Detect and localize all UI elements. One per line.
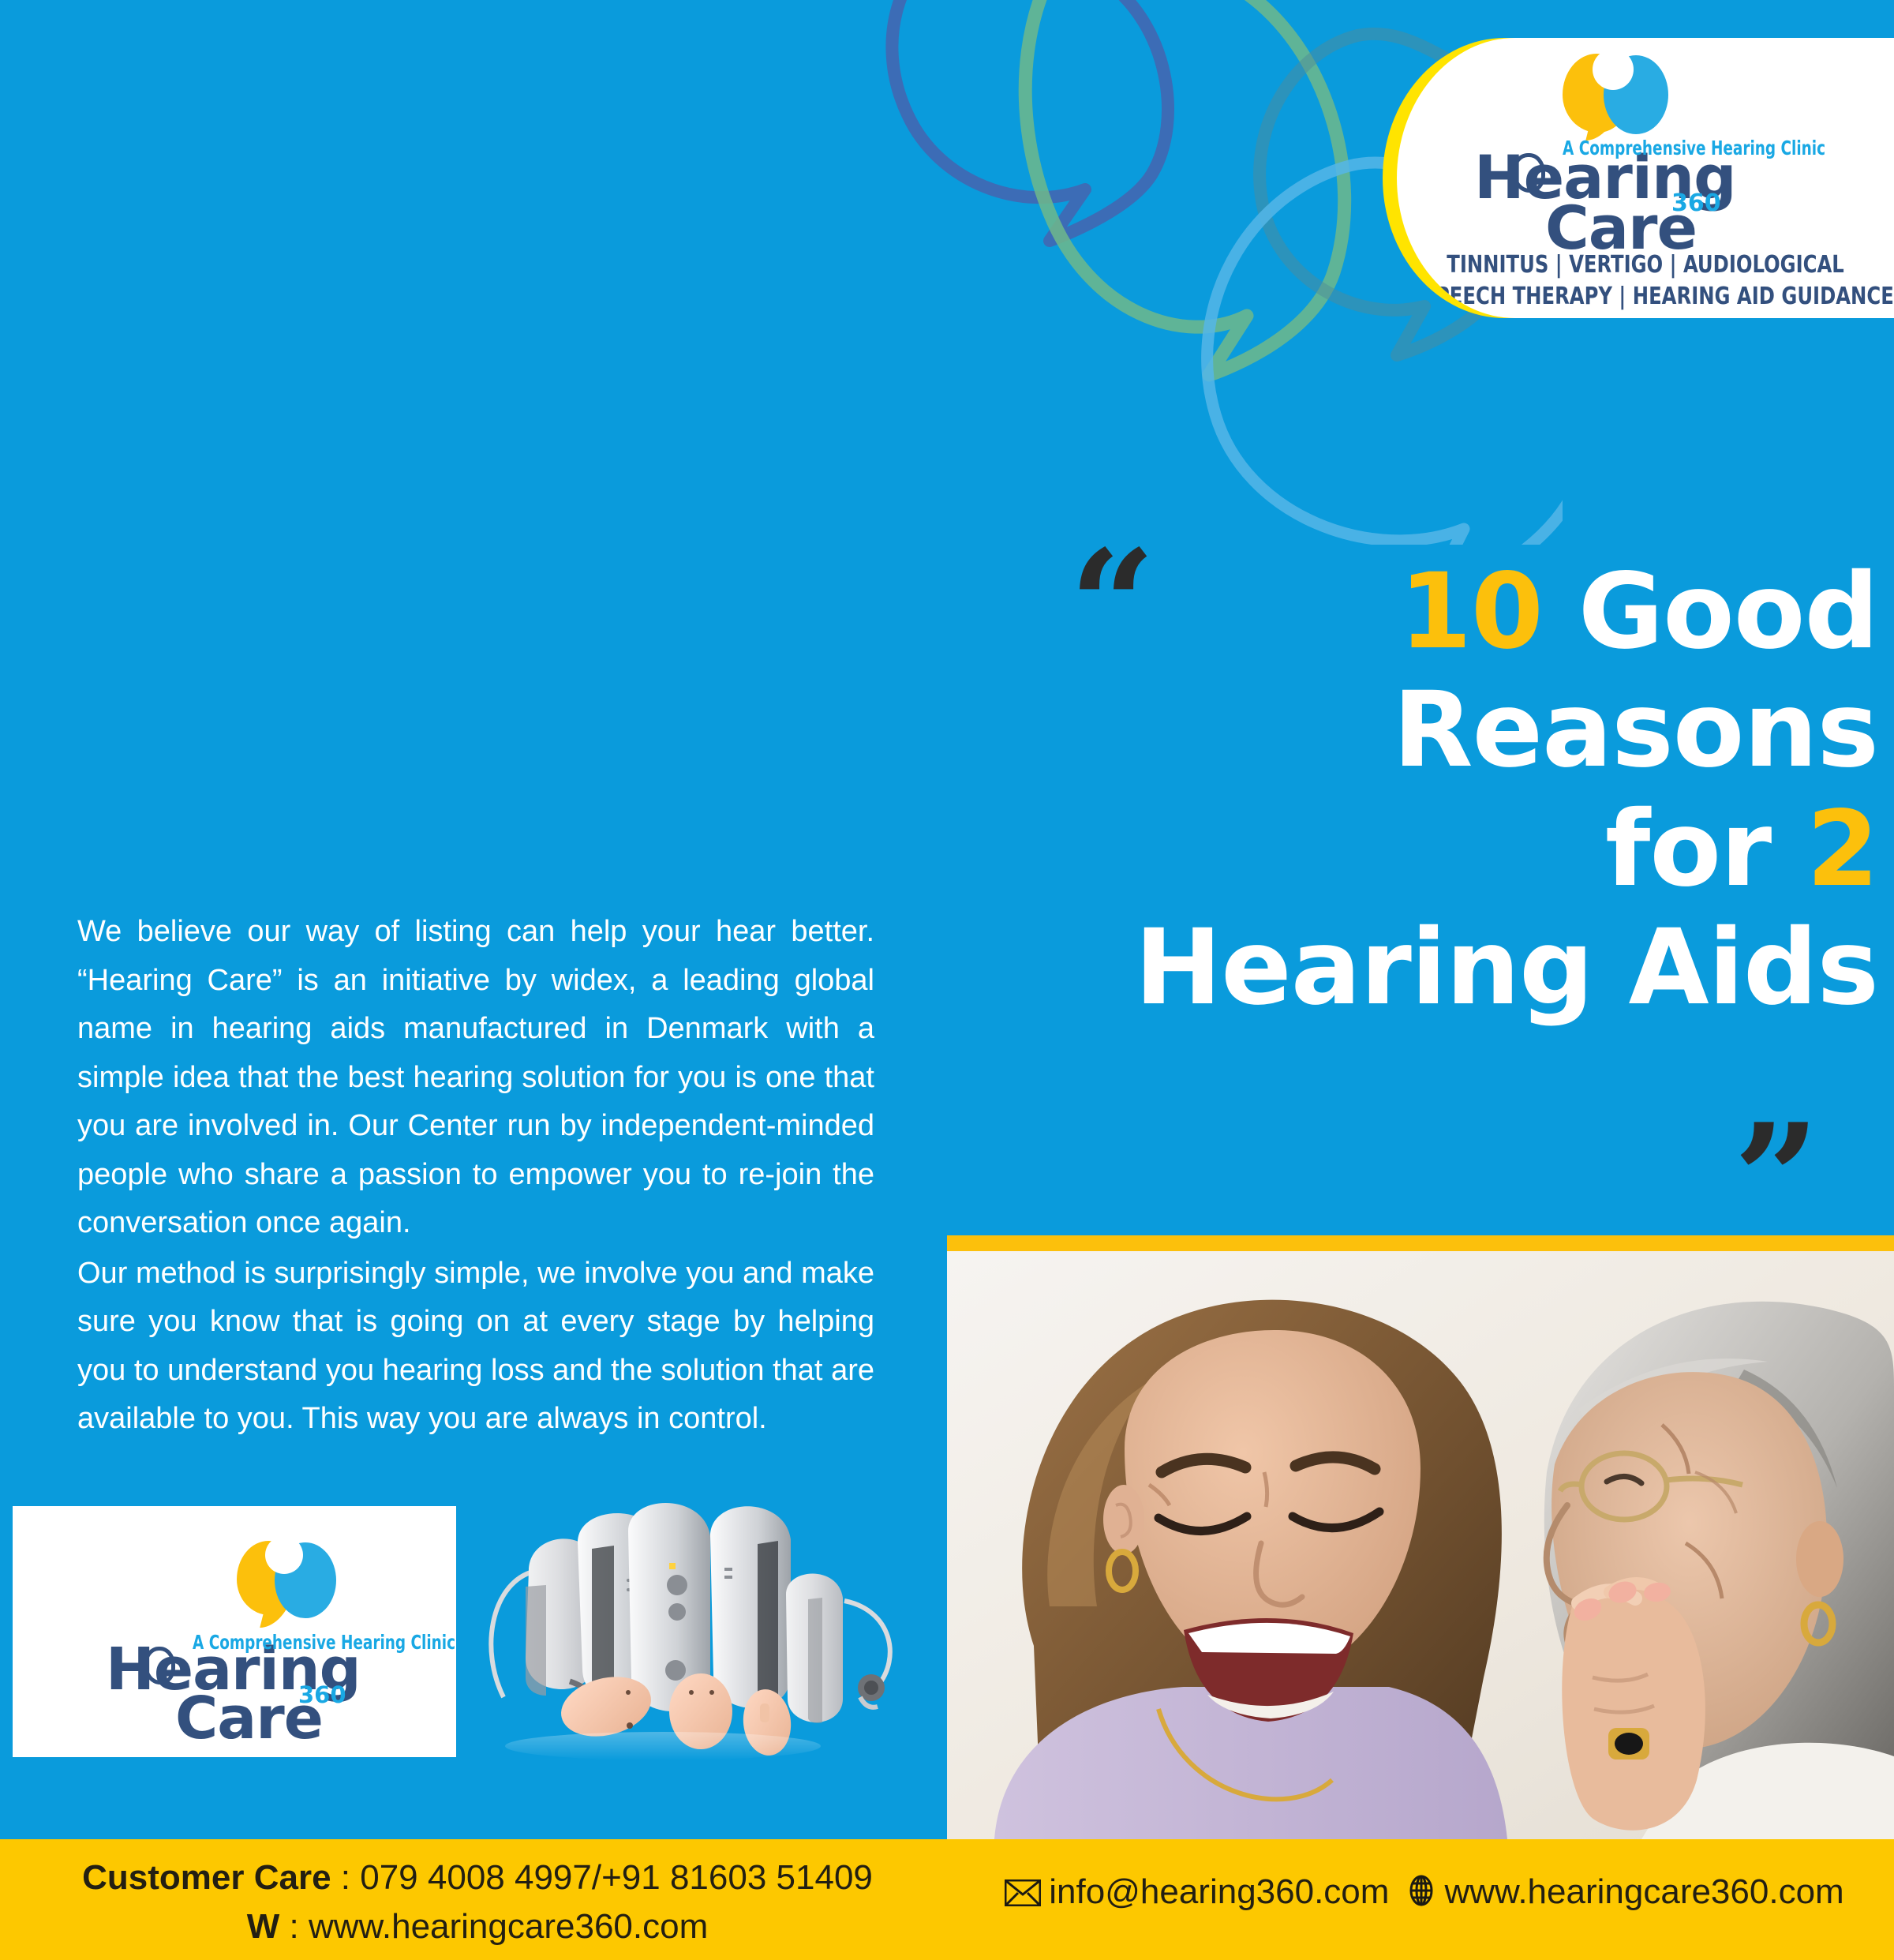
- headline-word-for: for: [1605, 789, 1806, 910]
- photo-top-accent-bar: [947, 1235, 1894, 1251]
- headline-line-3: for 2: [1042, 790, 1878, 909]
- headline-line-1: 10 Good: [1042, 553, 1878, 671]
- quote-close-mark: „: [1736, 1018, 1822, 1168]
- footer-logo-blob-notch: [265, 1536, 303, 1574]
- footer-logo-ear-icon: [144, 1647, 175, 1685]
- older-woman: [1544, 1302, 1894, 1839]
- footer-website-value[interactable]: www.hearingcare360.com: [1444, 1872, 1843, 1911]
- footer-logo-lockup: Hearing Care 360 A Comprehensive Hearing…: [13, 1506, 456, 1757]
- footer-customer-care-sep: :: [331, 1858, 361, 1897]
- headline: 10 Good Reasons for 2 Hearing Aids: [1042, 553, 1878, 1028]
- footer-bar: Customer Care : 079 4008 4997/+91 81603 …: [0, 1839, 1894, 1960]
- logo-services-line-2: SPEECH THERAPY | HEARING AID GUIDANCE: [1422, 283, 1870, 310]
- body-paragraph-1: We believe our way of listing can help y…: [77, 908, 874, 1248]
- speech-bubble-green: [1025, 0, 1344, 375]
- footer-web-line: W : www.hearingcare360.com: [0, 1902, 955, 1951]
- footer-web-sep: :: [279, 1907, 309, 1946]
- footer-email-value[interactable]: info@hearing360.com: [1049, 1872, 1389, 1911]
- headline-line-2: Reasons: [1042, 671, 1878, 789]
- body-copy: We believe our way of listing can help y…: [77, 908, 874, 1444]
- logo-card: Hearing Care 360 A Comprehensive Hearing…: [1397, 38, 1894, 318]
- footer-logo-box: Hearing Care 360 A Comprehensive Hearing…: [13, 1506, 456, 1757]
- headline-number-10: 10: [1399, 551, 1543, 673]
- globe-icon: [1406, 1871, 1436, 1920]
- logo-ear-icon: [1512, 153, 1545, 193]
- logo-360-superscript: 360: [1671, 189, 1721, 217]
- brochure-page: Hearing Care 360 A Comprehensive Hearing…: [0, 0, 1894, 1960]
- envelope-icon: [1005, 1871, 1041, 1920]
- footer-customer-care-value[interactable]: 079 4008 4997/+91 81603 51409: [360, 1858, 873, 1897]
- footer-web-value[interactable]: www.hearingcare360.com: [309, 1907, 708, 1946]
- headline-word-good: Good: [1543, 551, 1878, 673]
- speech-bubble-dark-blue: [892, 0, 1168, 241]
- lifestyle-photo: [947, 1235, 1894, 1839]
- footer-logo-360-superscript: 360: [298, 1681, 346, 1708]
- footer-web-label: W: [247, 1907, 280, 1946]
- logo-lockup: Hearing Care 360 A Comprehensive Hearing…: [1397, 38, 1894, 318]
- logo-services-line-1: TINNITUS | VERTIGO | AUDIOLOGICAL: [1422, 251, 1870, 279]
- footer-logo-tagline: A Comprehensive Hearing Clinic: [193, 1631, 455, 1654]
- logo-blob-notch: [1593, 49, 1634, 90]
- footer-contact-left: Customer Care : 079 4008 4997/+91 81603 …: [0, 1853, 955, 1952]
- logo-tagline: A Comprehensive Hearing Clinic: [1563, 137, 1825, 159]
- footer-customer-care-label: Customer Care: [82, 1858, 331, 1897]
- footer-customer-care-line: Customer Care : 079 4008 4997/+91 81603 …: [0, 1853, 955, 1902]
- footer-contact-right: info@hearing360.com www.hearingcare360.c…: [955, 1868, 1894, 1920]
- headline-word-reasons: Reasons: [1393, 669, 1878, 791]
- product-photo-hearing-aids: [473, 1500, 931, 1760]
- headline-number-2: 2: [1806, 789, 1878, 910]
- body-paragraph-2: Our method is surprisingly simple, we in…: [77, 1250, 874, 1444]
